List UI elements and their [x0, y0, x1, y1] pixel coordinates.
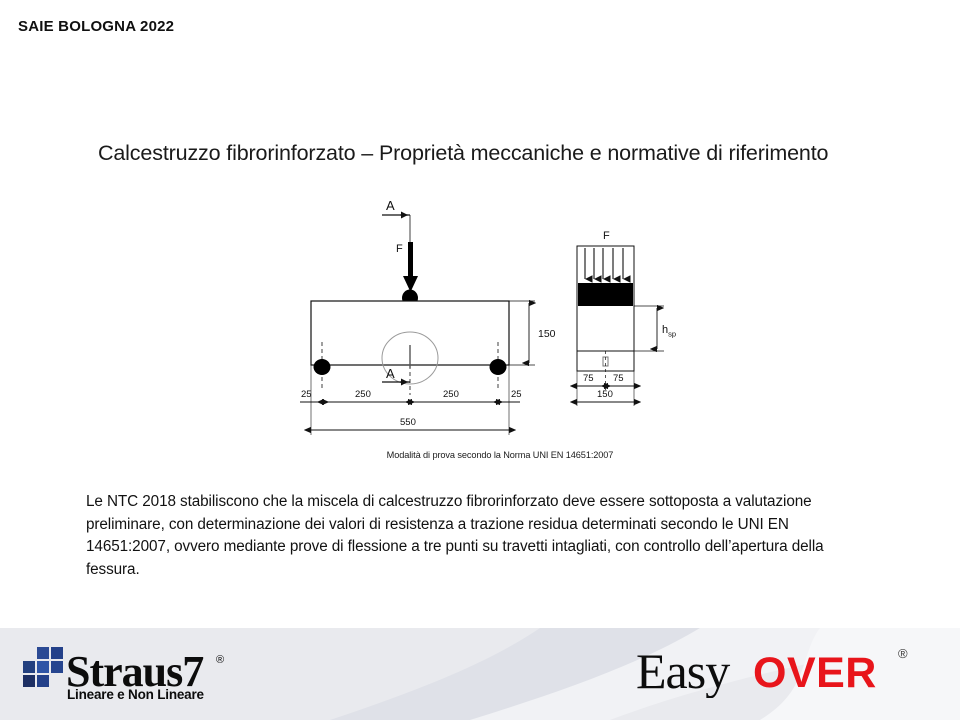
dim-hsp: [634, 306, 664, 351]
support-right: [490, 359, 507, 375]
load-label-f-section: F: [603, 230, 610, 242]
support-left: [314, 359, 331, 375]
straus7-registered-mark: ®: [216, 654, 224, 666]
dim-label-hsp: hsp: [662, 324, 676, 339]
easyover-logo: Easy OVER ®: [636, 644, 936, 698]
figure-caption: Modalità di prova secondo la Norma UNI E…: [300, 450, 700, 460]
load-label-f-beam: F: [396, 243, 403, 255]
dim-label-total-length: 550: [400, 417, 416, 428]
dim-label-section-width: 150: [597, 389, 613, 400]
dim-label-beam-height: 150: [538, 328, 556, 340]
easyover-over-wordmark: OVER: [753, 649, 877, 697]
dim-label-edge-right: 25: [511, 389, 522, 400]
straus7-logo: Straus7 ® Lineare e Non Lineare: [20, 646, 280, 702]
section-label-bottom-a: A: [386, 366, 395, 381]
dim-label-edge-left: 25: [301, 389, 312, 400]
dim-label-span-left: 250: [355, 389, 371, 400]
dim-label-span-right: 250: [443, 389, 459, 400]
section-loaded-zone: [578, 283, 633, 306]
slide-header-title: SAIE BOLOGNA 2022: [18, 18, 174, 35]
page-title: Calcestruzzo fibrorinforzato – Proprietà…: [98, 141, 888, 166]
body-paragraph: Le NTC 2018 stabiliscono che la miscela …: [86, 491, 876, 581]
dim-label-half-right: 75: [613, 373, 624, 384]
dim-beam-height: [509, 301, 535, 365]
straus7-tagline: Lineare e Non Lineare: [67, 687, 205, 702]
load-arrow-beam: [403, 242, 418, 292]
dim-label-half-left: 75: [583, 373, 594, 384]
section-label-top-a: A: [386, 198, 395, 213]
straus7-mark-icon: [23, 647, 63, 687]
easyover-registered-mark: ®: [898, 646, 908, 661]
test-setup-diagram: A F A 150: [300, 190, 700, 480]
easyover-easy-wordmark: Easy: [636, 644, 730, 698]
